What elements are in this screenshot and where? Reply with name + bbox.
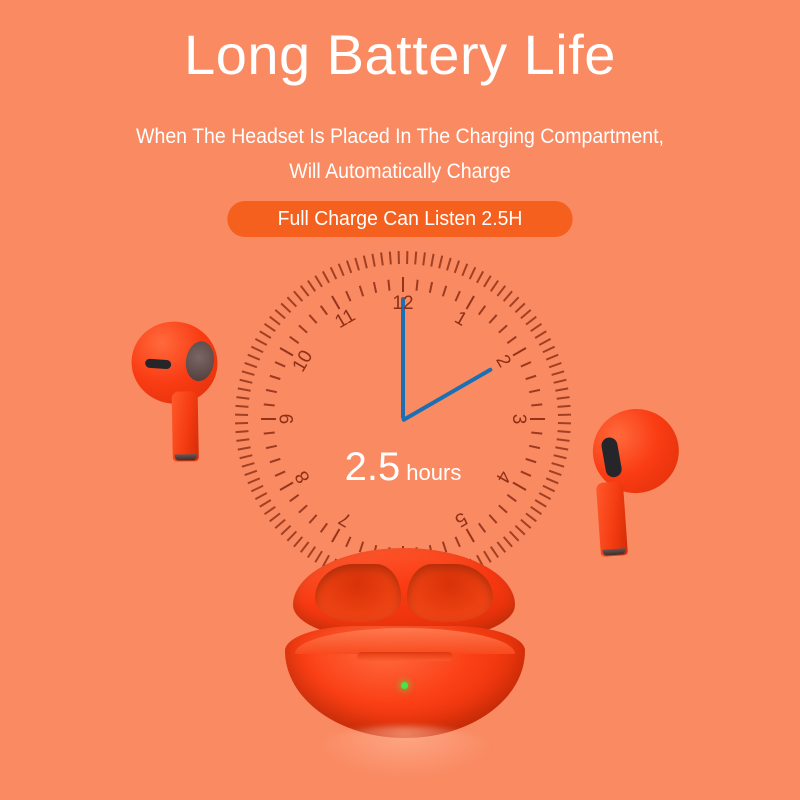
charging-case-cavity-right: [407, 564, 493, 622]
clock-hour-hand: [401, 367, 493, 422]
subtitle: When The Headset Is Placed In The Chargi…: [28, 120, 772, 189]
promo-banner: Long Battery Life When The Headset Is Pl…: [0, 0, 800, 800]
case-reflection: [315, 726, 495, 778]
subtitle-line-1: When The Headset Is Placed In The Chargi…: [28, 120, 772, 155]
page-title: Long Battery Life: [0, 24, 800, 86]
clock-minute-hand: [401, 297, 405, 419]
battery-hours-value: 2.5: [345, 445, 401, 489]
subtitle-line-2: Will Automatically Charge: [28, 155, 772, 190]
left-earbud-vent-slot: [145, 359, 172, 370]
charging-indicator-led: [401, 682, 408, 689]
left-earbud: [111, 311, 239, 465]
right-earbud: [566, 400, 700, 563]
battery-hours-unit: hours: [406, 460, 461, 485]
right-earbud-stem: [596, 481, 628, 557]
status-badge: Full Charge Can Listen 2.5H: [227, 201, 572, 237]
clock-center-label: 2.5hours: [203, 445, 603, 490]
charging-case-lip: [357, 652, 453, 661]
charging-case-cavity-left: [315, 564, 401, 622]
charging-case: [285, 548, 525, 738]
left-earbud-stem: [172, 391, 199, 461]
